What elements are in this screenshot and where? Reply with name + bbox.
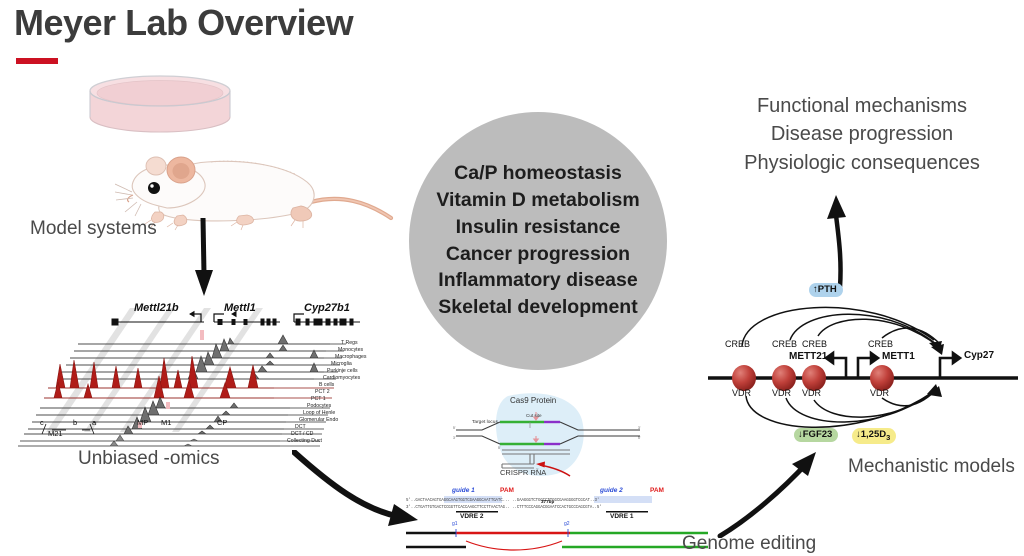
vdr-label: VDR	[772, 388, 791, 398]
label-unbiased-omics: Unbiased -omics	[78, 448, 220, 470]
research-topic: Ca/P homeostasis	[454, 161, 622, 187]
crispr-cas9-diagram: 5'3' 3'5' 5'3' Cas9 Protein Cut site Tar…	[452, 392, 644, 480]
sequence-bottom-strand: 3'..CTGATTGTGACTCCGGTTCACCAAGCTTCCTTAACT…	[406, 506, 602, 510]
arrow-omics-to-crispr	[292, 450, 422, 530]
celltype-label: DCT	[295, 424, 306, 430]
research-topic: Insulin resistance	[456, 215, 621, 241]
arrow-model-to-omics	[185, 218, 225, 296]
celltype-label: T Regs	[341, 340, 358, 346]
outcome-line: Disease progression	[700, 120, 1024, 148]
celltype-label: Macrophages	[335, 354, 366, 360]
arrow-genome-editing-to-mechanism	[716, 452, 824, 538]
label-model-systems: Model systems	[30, 218, 157, 240]
creb-label: CREB	[868, 339, 893, 349]
celltype-label: Collecting Duct	[287, 438, 322, 444]
petri-dish-illustration	[84, 73, 236, 135]
mechanistic-model-diagram: CREB CREB CREB CREB VDR VDR VDR VDR METT…	[706, 282, 1020, 454]
title-accent-rule	[16, 58, 58, 64]
label-cut-site: Cut site	[526, 413, 542, 418]
research-topic: Cancer progression	[446, 242, 630, 268]
celltype-label: Podocytes	[307, 403, 331, 409]
arrow-mechanism-to-outcomes	[820, 195, 856, 287]
badge-1-25-d3-text: ↓1,25D	[856, 429, 886, 440]
celltype-label: B cells	[319, 382, 334, 388]
label-spacer-length: 377bp	[541, 499, 554, 504]
label-target-locus: Target locus	[472, 420, 498, 426]
research-topic: Inflammatory disease	[438, 268, 637, 294]
edited-allele-schematic	[404, 527, 710, 553]
vdr-label: VDR	[870, 388, 889, 398]
sequence-top-strand: 5'..GACTAACAGTGAGGCAAGTGGTCGAAGGCAATTGAT…	[406, 499, 599, 503]
celltype-label: Monocytes	[338, 347, 363, 353]
celltype-label: Cardiomyocytes	[323, 375, 360, 381]
outcomes-list: Functional mechanisms Disease progressio…	[700, 92, 1024, 177]
gene-label-mett1: METT1	[882, 351, 915, 362]
gene-label-mett21: METT21	[789, 351, 827, 362]
outcome-line: Functional mechanisms	[700, 92, 1024, 120]
m21-bracket	[36, 422, 106, 436]
label-crispr-rna: CRISPR RNA	[500, 468, 546, 477]
vdre-underline-bars	[404, 511, 710, 517]
svg-text:3': 3'	[453, 436, 456, 440]
celltype-label: DCT / CD	[291, 431, 313, 437]
label-cas9-protein: Cas9 Protein	[510, 396, 556, 405]
svg-text:5': 5'	[498, 446, 501, 450]
gene-label-mettl1: Mettl1	[224, 302, 256, 314]
label-pam-2: PAM	[650, 487, 664, 494]
axis-label-m1: M1	[161, 418, 171, 427]
celltype-label: Glomerular Endo	[299, 417, 338, 423]
svg-text:3': 3'	[638, 426, 641, 430]
badge-pth: ↑PTH	[809, 283, 843, 297]
gene-label-mettl21b: Mettl21b	[134, 302, 179, 314]
label-pam-1: PAM	[500, 487, 514, 494]
gene-label-cyp27: Cyp27	[964, 350, 994, 361]
research-topic: Skeletal development	[438, 295, 637, 321]
badge-1-25-d3-sub: 3	[886, 432, 890, 441]
svg-text:5': 5'	[453, 426, 456, 430]
celltype-label: Loop of Henle	[303, 410, 335, 416]
badge-fgf23: ↓FGF23	[794, 428, 838, 442]
celltype-label: Microglia	[331, 361, 352, 367]
vdr-label: VDR	[732, 388, 751, 398]
badge-1-25-d3: ↓1,25D3	[852, 428, 896, 444]
celltype-label: Purkinje cells	[327, 368, 358, 374]
outcome-line: Physiologic consequences	[700, 149, 1024, 177]
vdr-label: VDR	[802, 388, 821, 398]
research-focus-circle: Ca/P homeostasis Vitamin D metabolism In…	[409, 112, 667, 370]
gene-label-cyp27b1: Cyp27b1	[304, 302, 350, 314]
svg-text:5': 5'	[638, 436, 641, 440]
celltype-label: PCT 1	[311, 396, 326, 402]
lab-mouse-illustration	[115, 140, 395, 235]
creb-label: CREB	[802, 339, 827, 349]
label-mechanistic-models: Mechanistic models	[848, 456, 1015, 478]
sequence-alignment-panel: guide 1 PAM guide 2 PAM 5'..GACTAACAGTGA…	[404, 487, 710, 553]
axis-label-cp: CP	[217, 418, 227, 427]
axis-label-mp: MP	[137, 418, 148, 427]
celltype-label: PCT 2	[315, 389, 330, 395]
genomics-tracks-panel: Mettl21b Mettl1 Cyp27b1 T Regs Monocytes…	[18, 300, 370, 450]
page-title: Meyer Lab Overview	[14, 2, 353, 44]
label-guide-2: guide 2	[600, 487, 623, 494]
research-topic: Vitamin D metabolism	[436, 188, 639, 214]
label-guide-1: guide 1	[452, 487, 475, 494]
creb-label: CREB	[725, 339, 750, 349]
creb-label: CREB	[772, 339, 797, 349]
